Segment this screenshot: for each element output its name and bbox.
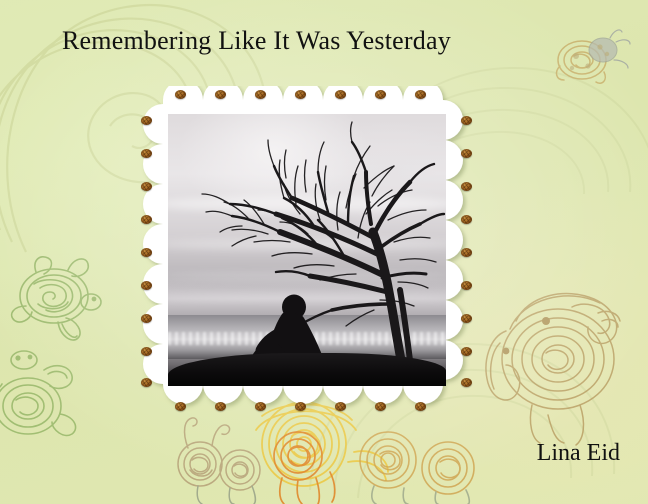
photo-person-silhouette-icon (168, 114, 446, 386)
frame-nut-decoration (295, 402, 306, 411)
frame-nut-decoration (335, 402, 346, 411)
frame-nut-decoration (141, 281, 152, 290)
author-name: Lina Eid (537, 440, 620, 467)
frame-nut-decoration (141, 116, 152, 125)
frame-nut-decoration (141, 149, 152, 158)
frame-nut-decoration (461, 248, 472, 257)
frame-nut-decoration (461, 347, 472, 356)
frame-nut-decoration (141, 248, 152, 257)
frame-nut-decoration (461, 378, 472, 387)
frame-nut-decoration (375, 402, 386, 411)
frame-nut-decoration (375, 90, 386, 99)
frame-nut-decoration (141, 215, 152, 224)
photo-frame (133, 86, 481, 416)
frame-nut-decoration (141, 347, 152, 356)
frame-nut-decoration (141, 378, 152, 387)
frame-nut-decoration (461, 182, 472, 191)
frame-nut-decoration (415, 90, 426, 99)
frame-nut-decoration (255, 402, 266, 411)
frame-nut-decoration (461, 281, 472, 290)
frame-nut-decoration (215, 402, 226, 411)
presentation-slide: Remembering Like It Was Yesterday Lina E… (0, 0, 648, 504)
frame-nut-decoration (295, 90, 306, 99)
frame-nut-decoration (215, 90, 226, 99)
frame-nut-decoration (461, 116, 472, 125)
photo-foreground-ground (168, 353, 446, 386)
frame-nut-decoration (461, 215, 472, 224)
frame-nut-decoration (141, 182, 152, 191)
frame-nut-decoration (255, 90, 266, 99)
page-title: Remembering Like It Was Yesterday (62, 27, 451, 56)
frame-nut-decoration (175, 90, 186, 99)
frame-nut-decoration (175, 402, 186, 411)
frame-nut-decoration (141, 314, 152, 323)
frame-nut-decoration (335, 90, 346, 99)
frame-nut-decoration (415, 402, 426, 411)
frame-nut-decoration (461, 314, 472, 323)
frame-nut-decoration (461, 149, 472, 158)
cover-photograph (168, 114, 446, 386)
